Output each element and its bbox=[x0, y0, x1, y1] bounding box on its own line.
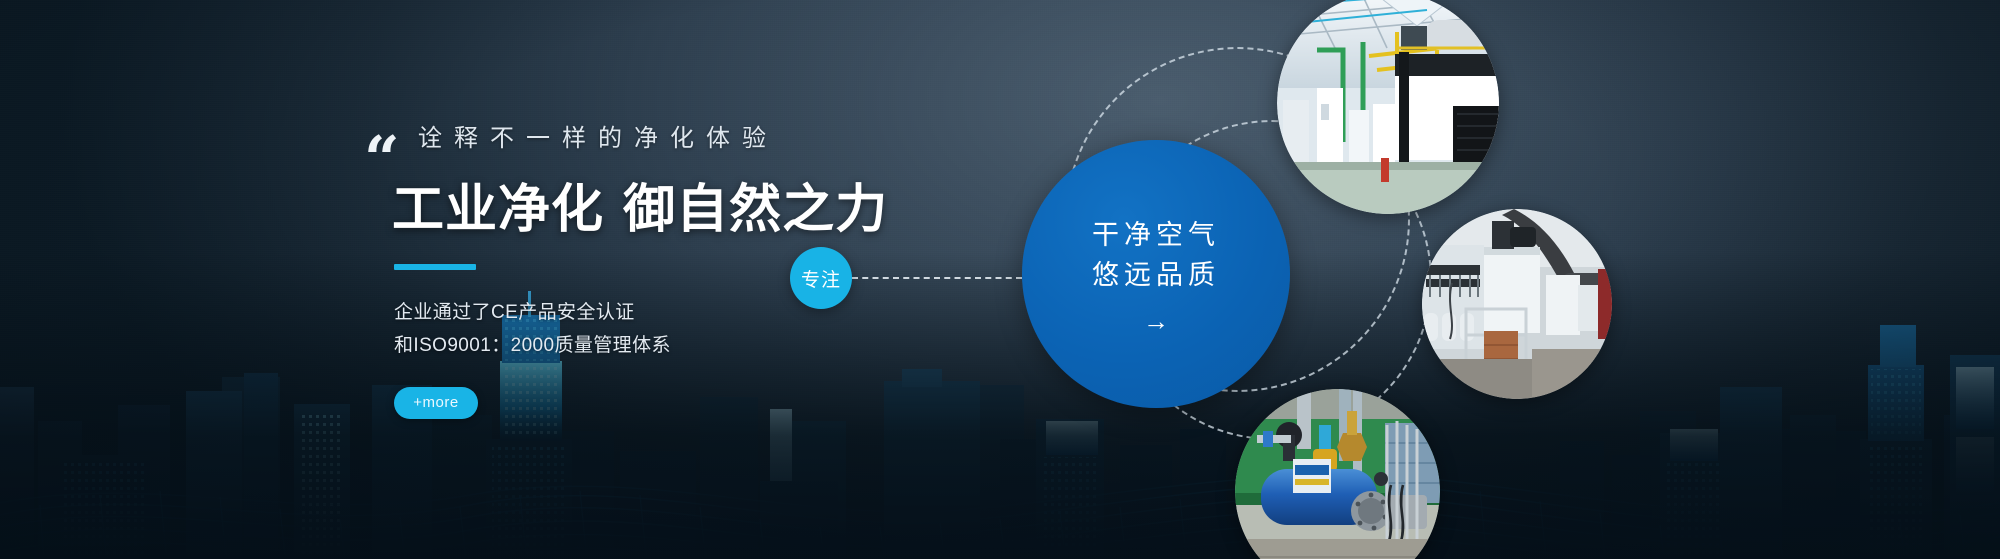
quote-mark-icon: “ bbox=[364, 128, 398, 190]
hero-title: 工业净化 御自然之力 bbox=[386, 167, 946, 242]
more-button[interactable]: +more bbox=[394, 387, 478, 419]
hero-copy-block: “ 诠释不一样的净化体验 工业净化 御自然之力 企业通过了CE产品安全认证 和I… bbox=[386, 118, 946, 419]
cityscape-svg bbox=[0, 269, 2000, 559]
photo-top-svg bbox=[1277, 0, 1499, 214]
hero-description-line2: 和ISO9001：2000质量管理体系 bbox=[394, 329, 946, 362]
hero-banner: 专注 干净空气 悠远品质 → bbox=[0, 0, 2000, 559]
arrow-right-icon: → bbox=[1143, 308, 1169, 334]
digital-city-skyline bbox=[0, 269, 2000, 559]
photo-mid-svg bbox=[1422, 209, 1612, 399]
title-underline-rule bbox=[394, 264, 476, 270]
photo-industrial-plant-interior bbox=[1277, 0, 1499, 214]
photo-textile-machinery-row bbox=[1422, 209, 1612, 399]
main-blue-circle-cta[interactable]: 干净空气 悠远品质 → bbox=[1022, 140, 1290, 408]
hero-subtitle: 诠释不一样的净化体验 bbox=[386, 118, 946, 153]
hero-description: 企业通过了CE产品安全认证 和ISO9001：2000质量管理体系 bbox=[394, 296, 946, 363]
main-circle-line2: 悠远品质 bbox=[1092, 255, 1220, 296]
main-circle-line1: 干净空气 bbox=[1092, 215, 1220, 256]
hero-description-line1: 企业通过了CE产品安全认证 bbox=[394, 296, 946, 329]
